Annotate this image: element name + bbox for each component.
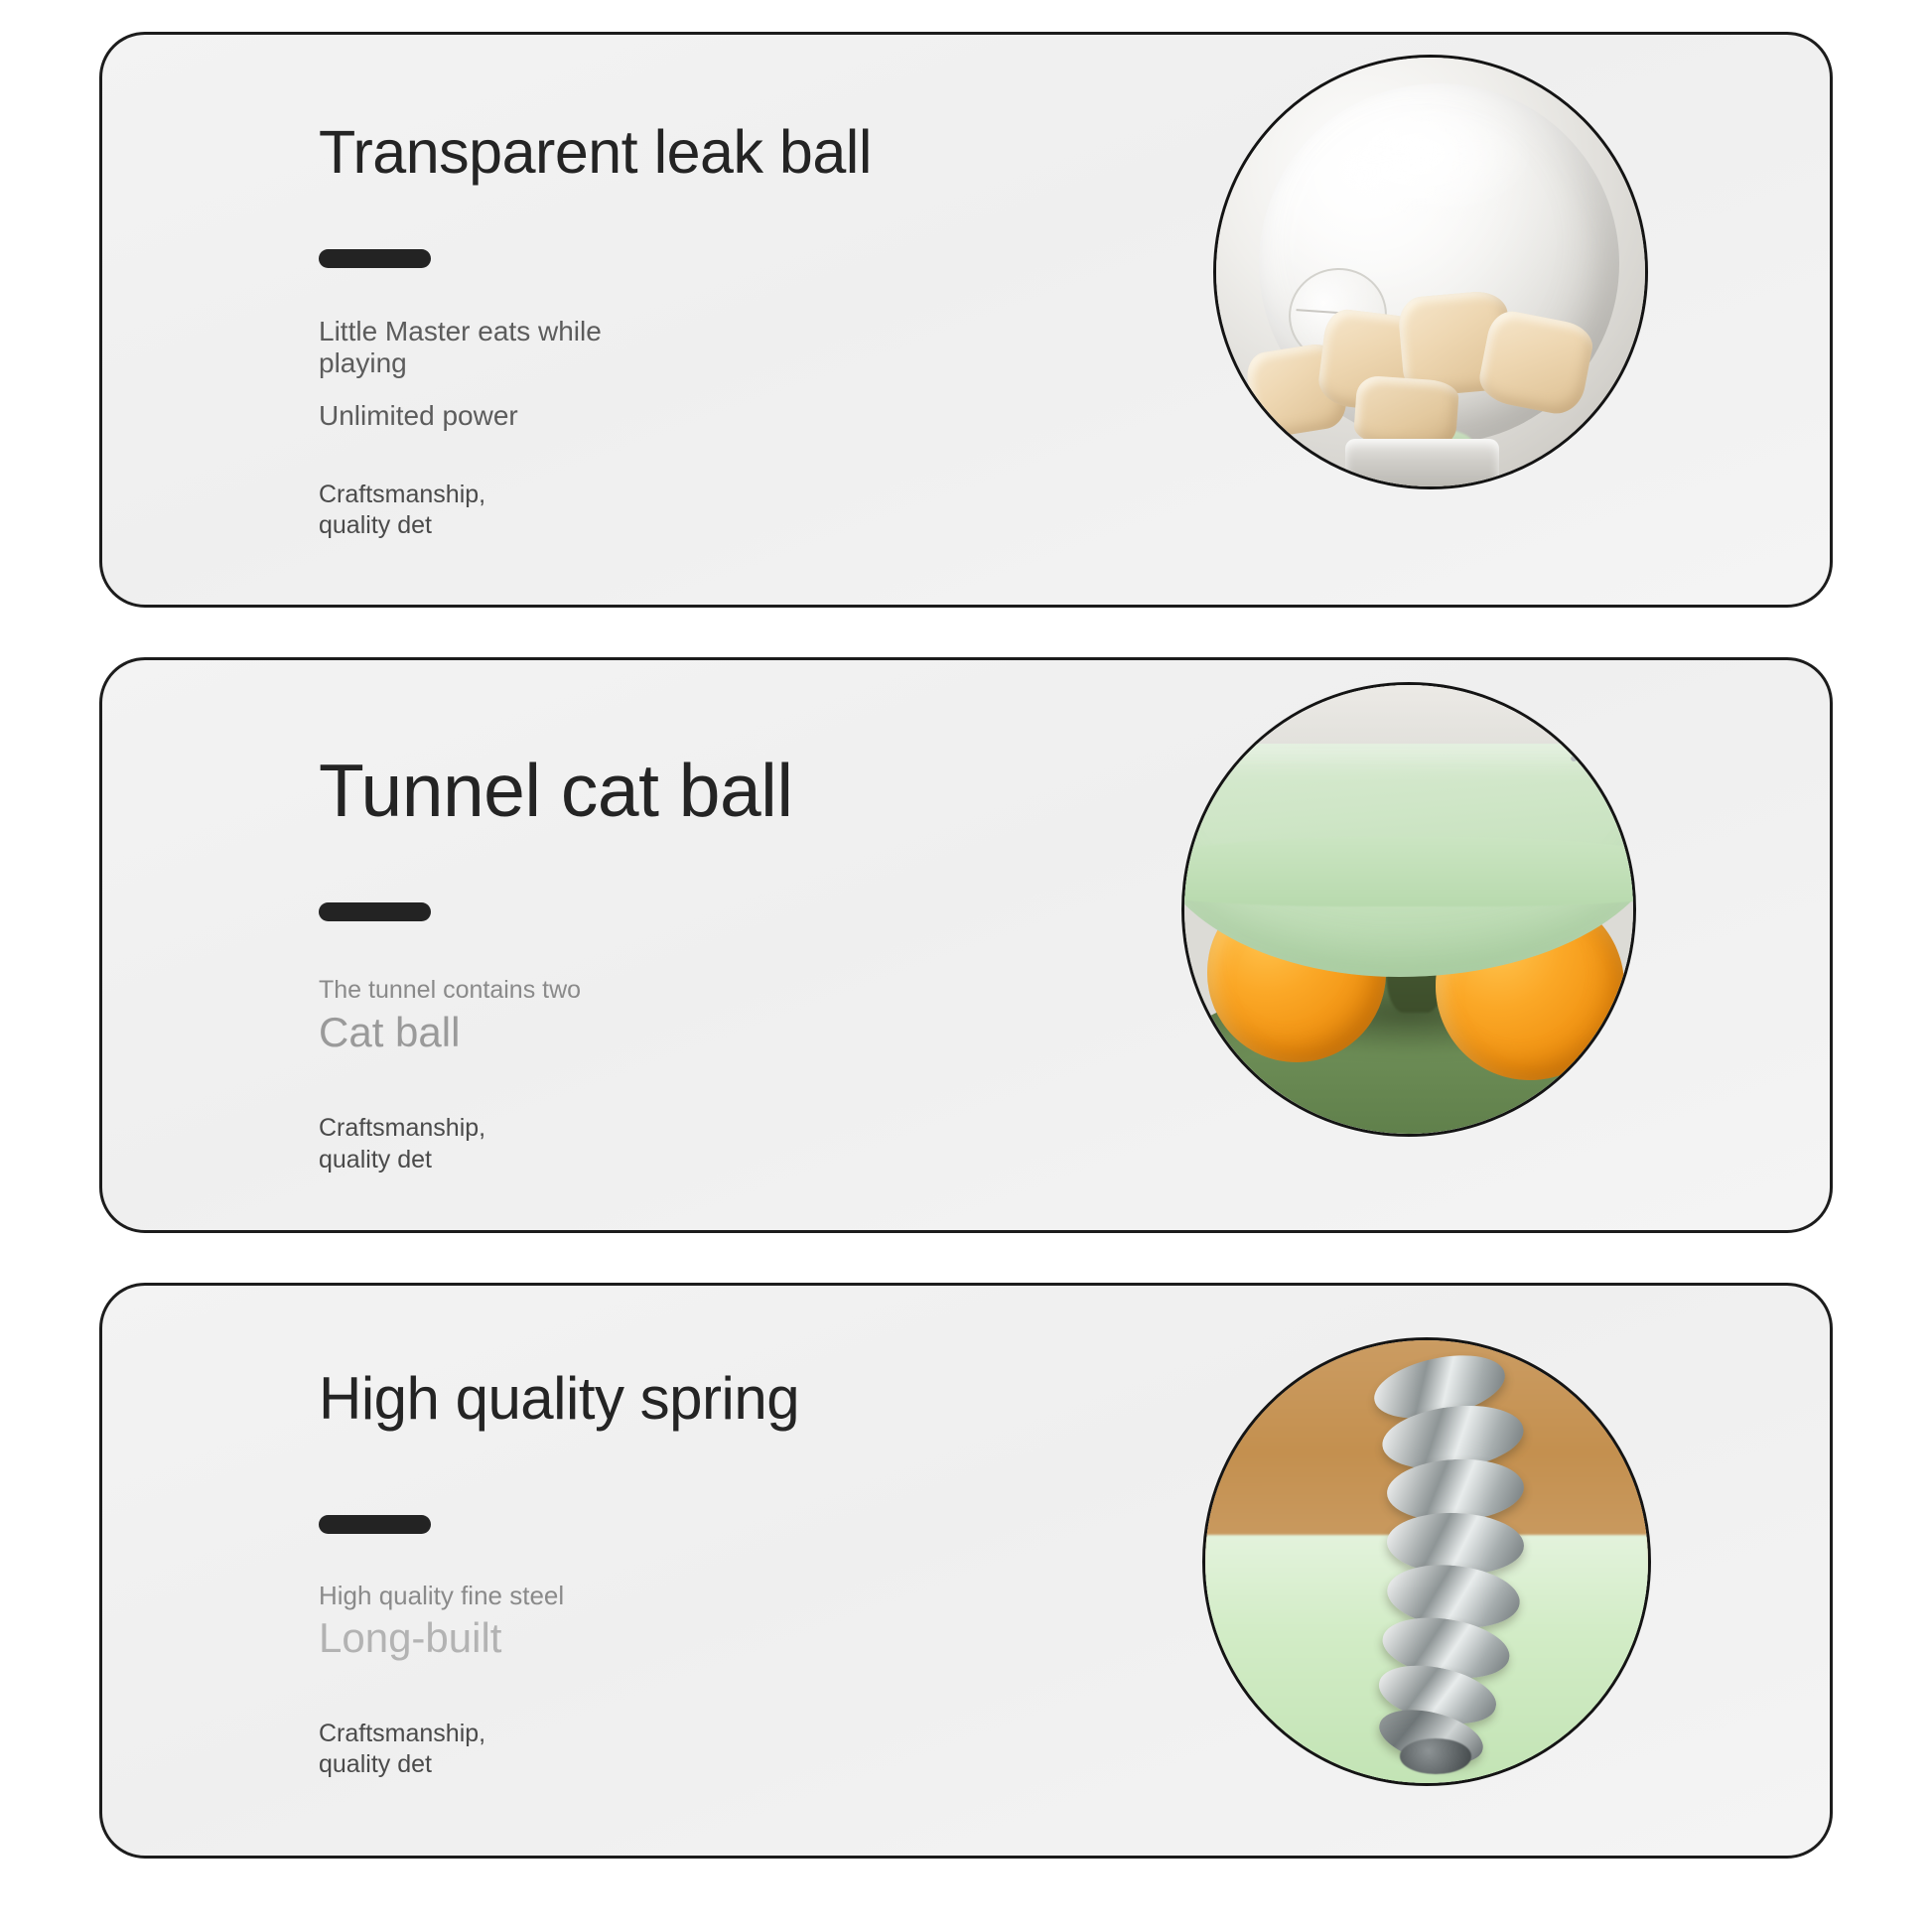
photo-canvas [1205, 1340, 1648, 1783]
photo-canvas [1216, 58, 1645, 486]
product-feature-page: Transparent leak ball Little Master eats… [0, 0, 1932, 1932]
card-headline: Tunnel cat ball [319, 752, 793, 830]
card-tagline: Craftsmanship, quality det [319, 1719, 485, 1781]
treat-piece [1475, 308, 1596, 419]
accent-rule [319, 1515, 431, 1534]
accent-rule [319, 249, 431, 268]
card-sub-secondary: Long-built [319, 1615, 501, 1661]
card-inner: Tunnel cat ball The tunnel contains two … [102, 660, 1830, 1230]
spring-icon [1562, 682, 1602, 765]
sphere-highlight [1345, 109, 1534, 220]
tunnel-lid-shape [1181, 744, 1636, 977]
card-sub-secondary: Unlimited power [319, 401, 518, 432]
accent-rule [319, 902, 431, 921]
card-subtext-block: Little Master eats while playing Unlimit… [319, 316, 646, 432]
spring-tip [1400, 1738, 1470, 1774]
card-photo-high-quality-spring [1202, 1337, 1651, 1786]
card-tagline: Craftsmanship, quality det [319, 1113, 485, 1175]
card-tagline: Craftsmanship, quality det [319, 480, 485, 542]
card-subtext-block: The tunnel contains two Cat ball [319, 976, 581, 1056]
treat-cluster [1242, 289, 1619, 461]
card-headline: Transparent leak ball [319, 120, 872, 184]
card-sub-secondary: Cat ball [319, 1010, 460, 1055]
card-inner: High quality spring High quality fine st… [102, 1286, 1830, 1856]
card-inner: Transparent leak ball Little Master eats… [102, 35, 1830, 605]
feature-card-high-quality-spring[interactable]: High quality spring High quality fine st… [99, 1283, 1833, 1859]
card-subtext-block: High quality fine steel Long-built [319, 1582, 564, 1661]
feature-card-tunnel-cat-ball[interactable]: Tunnel cat ball The tunnel contains two … [99, 657, 1833, 1233]
metal-base-shape [1345, 439, 1500, 489]
card-sub-primary: The tunnel contains two [319, 976, 581, 1005]
card-sub-primary: Little Master eats while playing [319, 316, 646, 379]
card-sub-primary: High quality fine steel [319, 1582, 564, 1611]
photo-canvas [1184, 685, 1633, 1134]
card-photo-tunnel-cat-ball [1181, 682, 1636, 1137]
card-photo-transparent-leak-ball [1213, 55, 1648, 489]
tunnel-lid-wave [1181, 837, 1636, 907]
feature-card-transparent-leak-ball[interactable]: Transparent leak ball Little Master eats… [99, 32, 1833, 608]
card-headline: High quality spring [319, 1367, 799, 1430]
